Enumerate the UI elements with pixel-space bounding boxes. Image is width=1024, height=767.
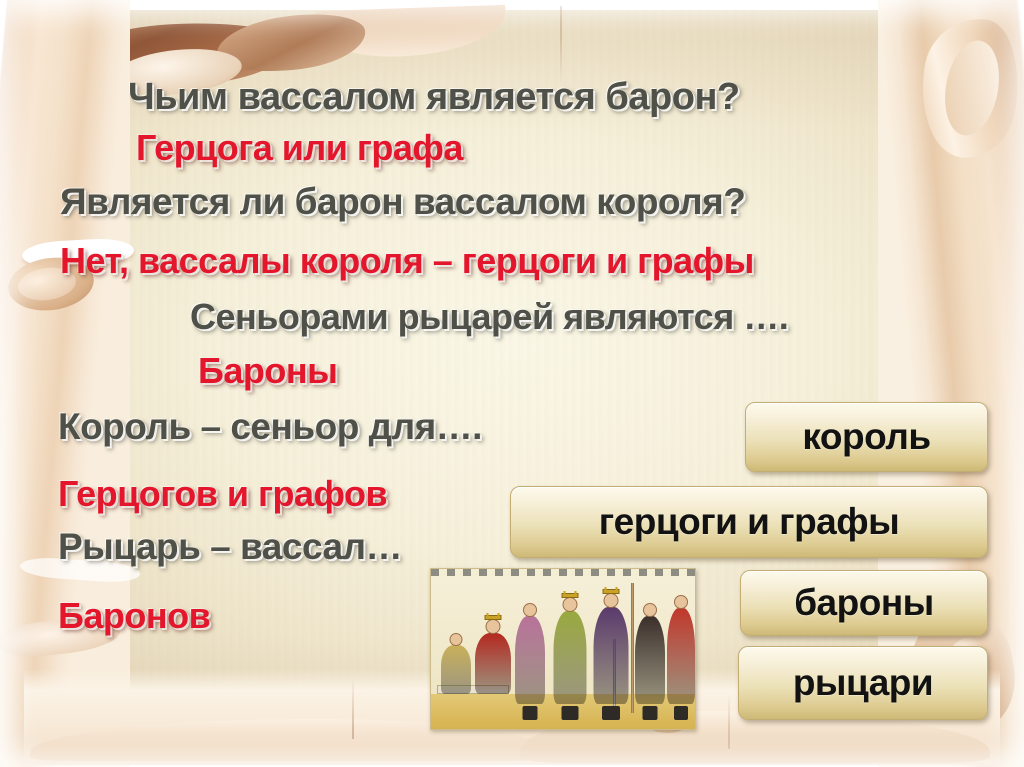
answer-box-3[interactable]: рыцари	[738, 646, 988, 720]
answer-box-label: герцоги и графы	[599, 501, 899, 543]
slide-canvas: Чьим вассалом является барон?Герцога или…	[0, 0, 1024, 767]
answer-box-label: бароны	[794, 582, 934, 624]
answer-box-label: король	[802, 416, 930, 458]
text-line-8: Рыцарь – вассал…	[58, 528, 402, 565]
answer-box-label: рыцари	[793, 662, 933, 704]
text-line-4: Сеньорами рыцарей являются ….	[190, 299, 788, 335]
text-line-1: Герцога или графа	[136, 130, 463, 166]
answer-box-0[interactable]: король	[745, 402, 988, 472]
text-line-5: Бароны	[198, 353, 337, 389]
answer-box-2[interactable]: бароны	[740, 570, 988, 636]
text-line-6: Король – сеньор для….	[58, 408, 482, 445]
text-line-0: Чьим вассалом является барон?	[128, 78, 740, 116]
text-line-3: Нет, вассалы короля – герцоги и графы	[60, 243, 754, 279]
text-line-9: Баронов	[58, 598, 210, 634]
answer-box-1[interactable]: герцоги и графы	[510, 486, 988, 558]
text-line-2: Является ли барон вассалом короля?	[60, 183, 745, 220]
text-line-7: Герцогов и графов	[58, 476, 387, 512]
